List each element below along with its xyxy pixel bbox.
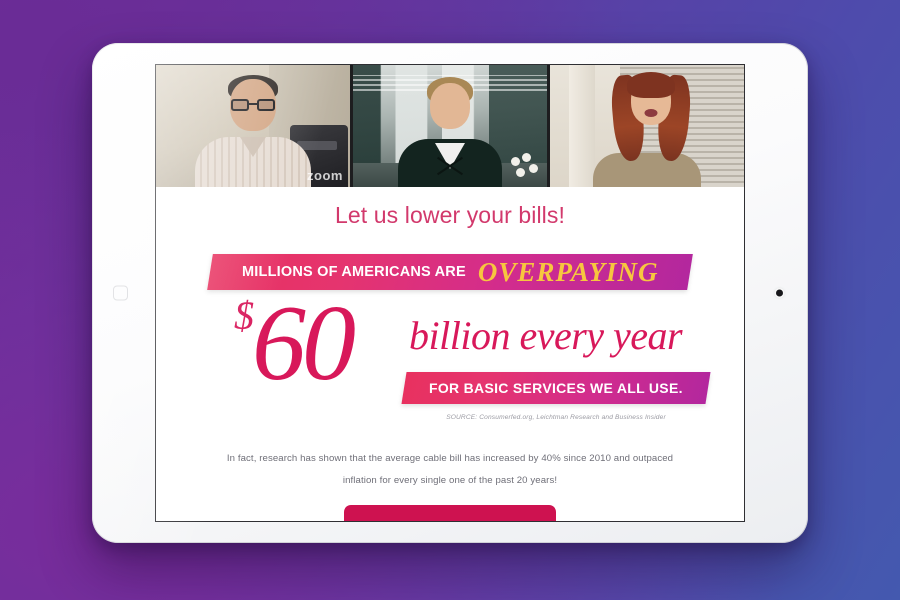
participant-mouth: [644, 109, 657, 117]
video-tile-participant-3[interactable]: [550, 65, 744, 187]
currency-symbol: $: [234, 293, 252, 338]
participant-torso: [593, 153, 701, 187]
overpaying-banner-lead: MILLIONS OF AMERICANS ARE: [242, 264, 466, 280]
body-paragraph-line-2: inflation for every single one of the pa…: [215, 470, 685, 492]
home-button-icon[interactable]: [113, 286, 128, 301]
participant-face: [430, 83, 470, 129]
body-paragraph: In fact, research has shown that the ave…: [215, 448, 685, 491]
cta-button[interactable]: [344, 505, 556, 522]
tablet-screen: zoom: [155, 64, 745, 522]
front-camera-icon: [776, 290, 783, 297]
eyeglasses-icon: [231, 99, 275, 111]
dollar-figure: $60: [234, 290, 352, 398]
overpaying-banner-accent: OVERPAYING: [478, 257, 659, 288]
source-citation: SOURCE: Consumerfed.org, Leichtman Resea…: [404, 414, 708, 421]
video-tile-participant-2[interactable]: [353, 65, 547, 187]
landing-page-content: Let us lower your bills! MILLIONS OF AME…: [156, 187, 744, 522]
basic-services-banner-text: FOR BASIC SERVICES WE ALL USE.: [429, 380, 683, 396]
video-tile-participant-1[interactable]: zoom: [156, 65, 350, 187]
tablet-device: zoom: [92, 43, 808, 543]
figure-amount: 60: [252, 284, 352, 403]
body-paragraph-line-1: In fact, research has shown that the ave…: [215, 448, 685, 470]
figure-unit: billion every year: [409, 312, 682, 359]
basic-services-banner: FOR BASIC SERVICES WE ALL USE.: [401, 372, 710, 404]
page-headline: Let us lower your bills!: [156, 203, 744, 228]
screenshot-stage: zoom: [0, 0, 900, 600]
figure-row: $60 billion every year FOR BASIC SERVICE…: [156, 294, 744, 402]
flower-arrangement: [509, 153, 541, 187]
participant-hair-top: [627, 72, 675, 98]
wall-post: [569, 65, 594, 187]
video-call-strip: zoom: [156, 65, 744, 187]
zoom-watermark: zoom: [307, 168, 343, 183]
